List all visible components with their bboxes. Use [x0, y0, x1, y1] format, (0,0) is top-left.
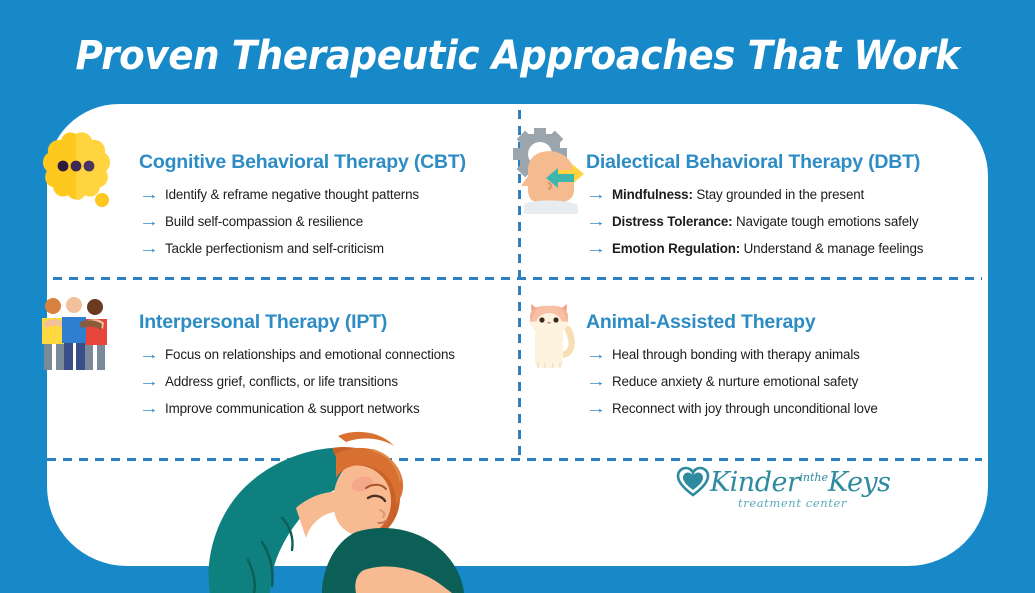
list-item: → Focus on relationships and emotional c… [139, 347, 455, 363]
list-item-text: Address grief, conflicts, or life transi… [165, 374, 398, 390]
quadrant-dbt: Dialectical Behavioral Therapy (DBT) → M… [586, 151, 923, 268]
list-item-text: Reconnect with joy through unconditional… [612, 401, 878, 417]
quadrant-aat-heading: Animal-Assisted Therapy [586, 311, 878, 334]
list-item-text: Identify & reframe negative thought patt… [165, 187, 419, 203]
logo-sup-in: in [799, 471, 810, 484]
list-item: → Distress Tolerance: Navigate tough emo… [586, 214, 923, 230]
logo-name-part2: Keys [828, 467, 891, 498]
quadrant-dbt-bullets: → Mindfulness: Stay grounded in the pres… [586, 187, 923, 257]
list-item-text: Focus on relationships and emotional con… [165, 347, 455, 363]
list-item-lead: Emotion Regulation: [612, 241, 740, 256]
quadrant-cbt: Cognitive Behavioral Therapy (CBT) → Ide… [139, 151, 466, 268]
horizontal-divider-middle [53, 277, 982, 280]
three-people-icon [36, 296, 112, 377]
list-item: → Tackle perfectionism and self-criticis… [139, 241, 466, 257]
arrow-right-icon: → [139, 214, 162, 230]
list-item-text: Reduce anxiety & nurture emotional safet… [612, 374, 858, 390]
list-item: → Emotion Regulation: Understand & manag… [586, 241, 923, 257]
list-item: → Reconnect with joy through uncondition… [586, 401, 878, 417]
logo-wordmark: KinderintheKeys [710, 467, 891, 498]
arrow-right-icon: → [586, 187, 609, 203]
list-item-text: Emotion Regulation: Understand & manage … [612, 241, 923, 257]
quadrant-cbt-bullets: → Identify & reframe negative thought pa… [139, 187, 466, 257]
list-item-rest: Stay grounded in the present [693, 187, 864, 202]
list-item: → Improve communication & support networ… [139, 401, 455, 417]
list-item-rest: Navigate tough emotions safely [732, 214, 918, 229]
head-gear-icon [512, 128, 588, 219]
quadrant-ipt: Interpersonal Therapy (IPT) → Focus on r… [139, 311, 455, 428]
woman-curled-up-illustration [196, 420, 516, 593]
arrow-right-icon: → [586, 214, 609, 230]
list-item-text: Distress Tolerance: Navigate tough emoti… [612, 214, 918, 230]
infographic-poster: Proven Therapeutic Approaches That Work … [0, 0, 1035, 593]
heart-icon [676, 466, 710, 498]
arrow-right-icon: → [139, 187, 162, 203]
list-item: → Heal through bonding with therapy anim… [586, 347, 878, 363]
list-item-text: Heal through bonding with therapy animal… [612, 347, 860, 363]
quadrant-aat: Animal-Assisted Therapy → Heal through b… [586, 311, 878, 428]
list-item: → Build self-compassion & resilience [139, 214, 466, 230]
logo-name-part1: Kinder [710, 467, 799, 498]
arrow-right-icon: → [586, 241, 609, 257]
arrow-right-icon: → [139, 374, 162, 390]
list-item: → Identify & reframe negative thought pa… [139, 187, 466, 203]
quadrant-dbt-heading: Dialectical Behavioral Therapy (DBT) [586, 151, 923, 174]
logo-sup-the: the [810, 471, 828, 484]
quadrant-cbt-heading: Cognitive Behavioral Therapy (CBT) [139, 151, 466, 174]
list-item-text: Build self-compassion & resilience [165, 214, 363, 230]
list-item-rest: Understand & manage feelings [740, 241, 923, 256]
arrow-right-icon: → [586, 401, 609, 417]
list-item: → Mindfulness: Stay grounded in the pres… [586, 187, 923, 203]
list-item-text: Tackle perfectionism and self-criticism [165, 241, 384, 257]
arrow-right-icon: → [586, 374, 609, 390]
arrow-right-icon: → [139, 347, 162, 363]
list-item: → Address grief, conflicts, or life tran… [139, 374, 455, 390]
arrow-right-icon: → [139, 401, 162, 417]
cat-icon [521, 300, 585, 377]
list-item-lead: Distress Tolerance: [612, 214, 732, 229]
list-item-lead: Mindfulness: [612, 187, 693, 202]
list-item: → Reduce anxiety & nurture emotional saf… [586, 374, 878, 390]
brand-logo: KinderintheKeys treatment center [676, 466, 891, 510]
arrow-right-icon: → [586, 347, 609, 363]
list-item-text: Improve communication & support networks [165, 401, 419, 417]
logo-tagline: treatment center [738, 496, 891, 510]
list-item-text: Mindfulness: Stay grounded in the presen… [612, 187, 864, 203]
thought-bubble-icon [36, 128, 116, 217]
quadrant-ipt-bullets: → Focus on relationships and emotional c… [139, 347, 455, 417]
quadrant-aat-bullets: → Heal through bonding with therapy anim… [586, 347, 878, 417]
quadrant-ipt-heading: Interpersonal Therapy (IPT) [139, 311, 455, 334]
page-title: Proven Therapeutic Approaches That Work [36, 33, 999, 79]
arrow-right-icon: → [139, 241, 162, 257]
